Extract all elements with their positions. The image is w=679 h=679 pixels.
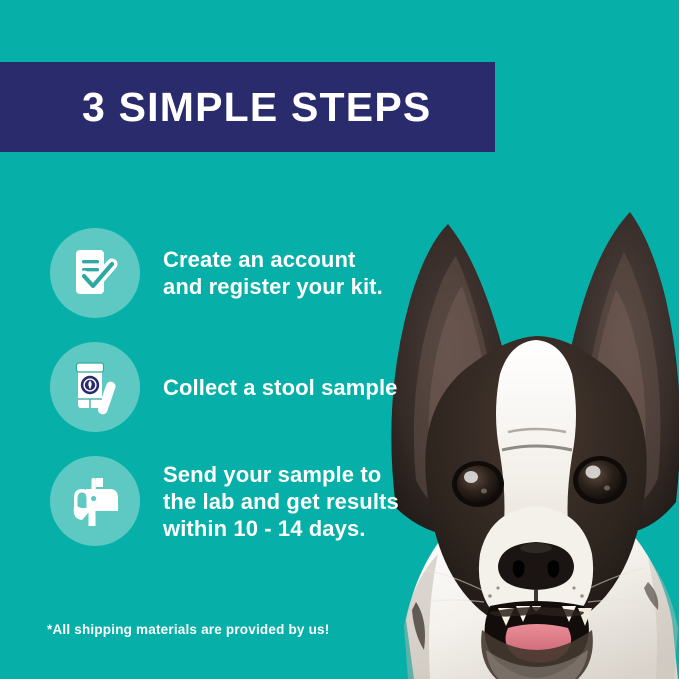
steps-list: Create an account and register your kit.: [50, 228, 430, 570]
header-banner: 3 SIMPLE STEPS: [0, 62, 495, 152]
sample-tube-icon: [66, 358, 124, 416]
promo-graphic: 3 SIMPLE STEPS Create an account and reg…: [0, 0, 679, 679]
step-label: Send your sample to the lab and get resu…: [163, 461, 399, 542]
step-label: Collect a stool sample: [163, 374, 398, 401]
page-title: 3 SIMPLE STEPS: [82, 87, 431, 128]
step-icon-circle: [50, 228, 140, 318]
step-icon-circle: [50, 342, 140, 432]
step-item: Create an account and register your kit.: [50, 228, 430, 318]
footnote: *All shipping materials are provided by …: [47, 622, 329, 637]
step-icon-circle: [50, 456, 140, 546]
step-label: Create an account and register your kit.: [163, 246, 383, 300]
clipboard-check-icon: [67, 245, 123, 301]
step-item: Collect a stool sample: [50, 342, 430, 432]
step-item: Send your sample to the lab and get resu…: [50, 456, 430, 546]
mailbox-icon: [66, 475, 124, 527]
